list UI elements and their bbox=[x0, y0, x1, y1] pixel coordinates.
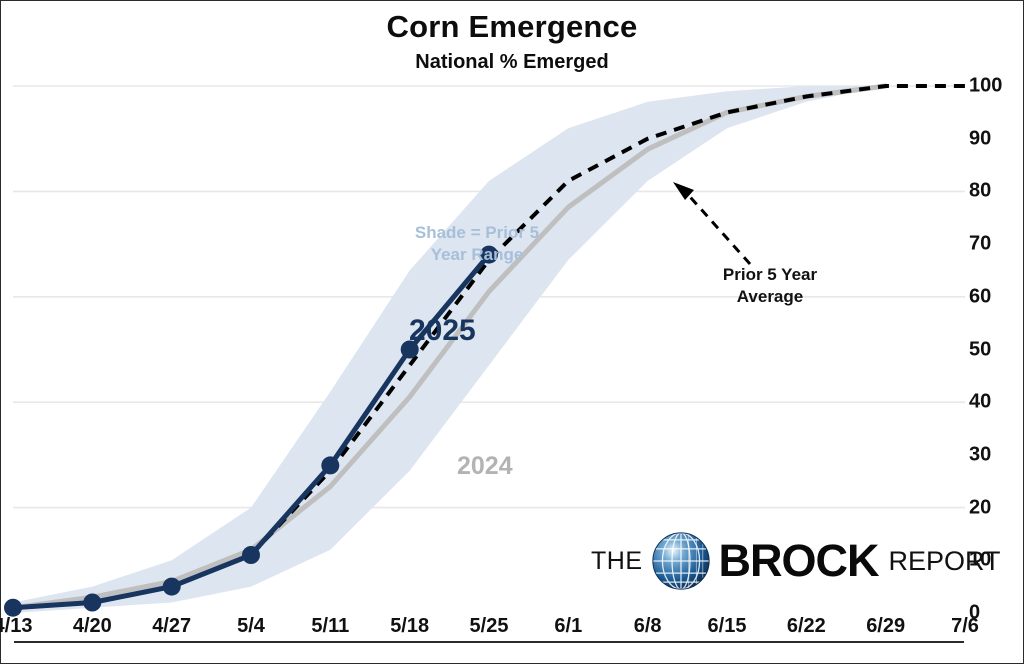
prior-average-note: Prior 5 Year Average bbox=[685, 264, 855, 308]
x-axis-rule bbox=[14, 641, 964, 643]
page-title: Corn Emergence bbox=[1, 9, 1023, 45]
x-axis-tick-label: 4/20 bbox=[73, 615, 112, 638]
y-axis-tick-label: 80 bbox=[969, 180, 1015, 203]
series-label-2025: 2025 bbox=[409, 314, 476, 348]
chart-subtitle: National % Emerged bbox=[1, 51, 1023, 74]
data-point-marker-2025 bbox=[321, 456, 339, 474]
chart-container: Corn Emergence National % Emerged Shade … bbox=[0, 0, 1024, 664]
data-point-marker-2025 bbox=[83, 594, 101, 612]
x-axis-tick-label: 4/27 bbox=[152, 615, 191, 638]
y-axis-tick-label: 90 bbox=[969, 127, 1015, 150]
x-axis-tick-label: 6/22 bbox=[787, 615, 826, 638]
x-axis-tick-label: 4/13 bbox=[0, 615, 32, 638]
y-axis-tick-label: 70 bbox=[969, 233, 1015, 256]
x-axis-tick-label: 6/29 bbox=[866, 615, 905, 638]
globe-icon bbox=[649, 529, 713, 593]
callout-leader-line bbox=[683, 189, 750, 264]
x-axis-labels: 4/134/204/275/45/115/185/256/16/86/156/2… bbox=[13, 615, 965, 649]
data-point-marker-2025 bbox=[242, 546, 260, 564]
brock-report-logo: THE bbox=[591, 529, 1001, 593]
x-axis-tick-label: 5/18 bbox=[390, 615, 429, 638]
x-axis-tick-label: 5/11 bbox=[311, 615, 349, 638]
data-point-marker-2025 bbox=[163, 578, 181, 596]
y-axis-tick-label: 20 bbox=[969, 496, 1015, 519]
x-axis-tick-label: 5/4 bbox=[237, 615, 265, 638]
x-axis-tick-label: 6/15 bbox=[708, 615, 747, 638]
y-axis-tick-label: 40 bbox=[969, 391, 1015, 414]
y-axis-tick-label: 100 bbox=[969, 75, 1015, 98]
data-point-marker-2025 bbox=[4, 599, 22, 617]
shade-range-note: Shade = Prior 5 Year Range bbox=[393, 222, 561, 266]
average-callout-arrow bbox=[673, 182, 750, 264]
y-axis-tick-label: 50 bbox=[969, 338, 1015, 361]
y-axis-tick-label: 30 bbox=[969, 443, 1015, 466]
x-axis-tick-label: 6/8 bbox=[634, 615, 662, 638]
logo-the-text: THE bbox=[591, 547, 643, 576]
series-label-2024: 2024 bbox=[457, 452, 513, 481]
y-axis-tick-label: 60 bbox=[969, 285, 1015, 308]
x-axis-tick-label: 6/1 bbox=[554, 615, 582, 638]
logo-brock-text: BROCK bbox=[719, 535, 879, 587]
logo-report-text: REPORT bbox=[889, 546, 1001, 577]
x-axis-tick-label: 5/25 bbox=[470, 615, 509, 638]
x-axis-tick-label: 7/6 bbox=[951, 615, 979, 638]
